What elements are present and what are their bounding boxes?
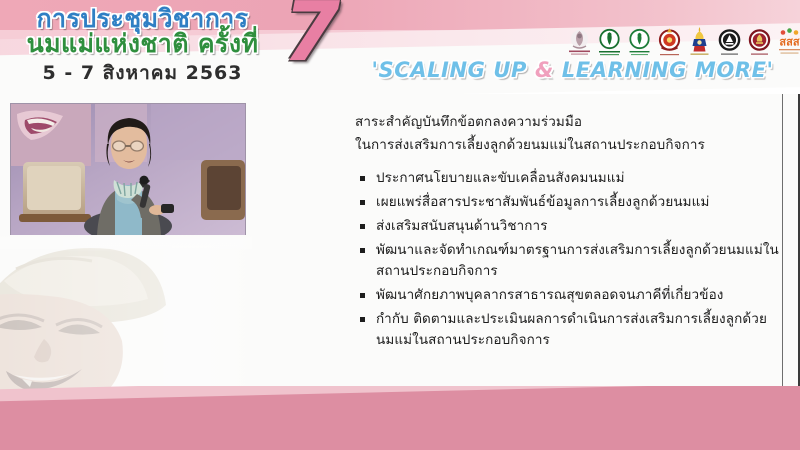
speaker-video-inset[interactable]	[10, 103, 246, 238]
logo-ministry-public-health-icon	[596, 26, 623, 59]
logo-red-emblem-icon	[656, 26, 683, 59]
logo-black-circle-emblem-icon	[716, 26, 743, 59]
tagline-part-after: LEARNING MORE'	[554, 58, 774, 82]
conference-title-line2: นมแม่แห่งชาติ ครั้งที่	[0, 31, 285, 56]
edition-number: 7	[283, 0, 340, 74]
logo-thaihealth-icon: สสส	[776, 26, 800, 59]
header-banner: การประชุมวิชาการ นมแม่แห่งชาติ ครั้งที่ …	[0, 0, 800, 94]
tagline-ampersand: &	[535, 58, 554, 82]
logo-royal-seal-icon	[566, 26, 593, 59]
conference-title-block: การประชุมวิชาการ นมแม่แห่งชาติ ครั้งที่ …	[0, 0, 300, 94]
logo-royal-crest-icon	[686, 26, 713, 59]
list-item: ประกาศนโยบายและขับเคลื่อนสังคมนมแม่	[359, 168, 779, 189]
list-item: ส่งเสริมสนับสนุนด้านวิชาการ	[359, 216, 779, 237]
list-item: เผยแพร่สื่อสารประชาสัมพันธ์ข้อมูลการเลี้…	[359, 192, 779, 213]
lead-line-2: ในการส่งเสริมการเลี้ยงลูกด้วยนมแม่ในสถาน…	[355, 134, 775, 157]
conference-title-line1: การประชุมวิชาการ	[0, 6, 285, 31]
lead-line-1: สาระสำคัญบันทึกข้อตกลงความร่วมมือ	[355, 111, 775, 134]
svg-text:สสส: สสส	[779, 36, 799, 49]
list-item: พัฒนาศักยภาพบุคลากรสาธารณสุขตลอดจนภาคีที…	[359, 285, 779, 306]
slide-stage: การประชุมวิชาการ นมแม่แห่งชาติ ครั้งที่ …	[0, 0, 800, 450]
conference-tagline: 'SCALING UP & LEARNING MORE'	[360, 58, 785, 82]
baby-photo-background	[0, 235, 252, 435]
content-panel: สาระสำคัญบันทึกข้อตกลงความร่วมมือ ในการส…	[255, 98, 775, 398]
list-item: กำกับ ติดตามและประเมินผลการดำเนินการส่งเ…	[359, 309, 779, 351]
tagline-part-before: 'SCALING UP	[371, 58, 535, 82]
conference-date: 5 - 7 สิงหาคม 2563	[0, 58, 285, 88]
logo-dark-red-emblem-icon	[746, 26, 773, 59]
content-bullet-list: ประกาศนโยบายและขับเคลื่อนสังคมนมแม่ เผยแ…	[359, 168, 779, 354]
sponsor-logo-strip: สสส	[566, 25, 800, 59]
logo-department-health-icon	[626, 26, 653, 59]
list-item: พัฒนาและจัดทำเกณฑ์มาตรฐานการส่งเสริมการเ…	[359, 240, 779, 282]
content-lead-paragraph: สาระสำคัญบันทึกข้อตกลงความร่วมมือ ในการส…	[355, 111, 775, 157]
